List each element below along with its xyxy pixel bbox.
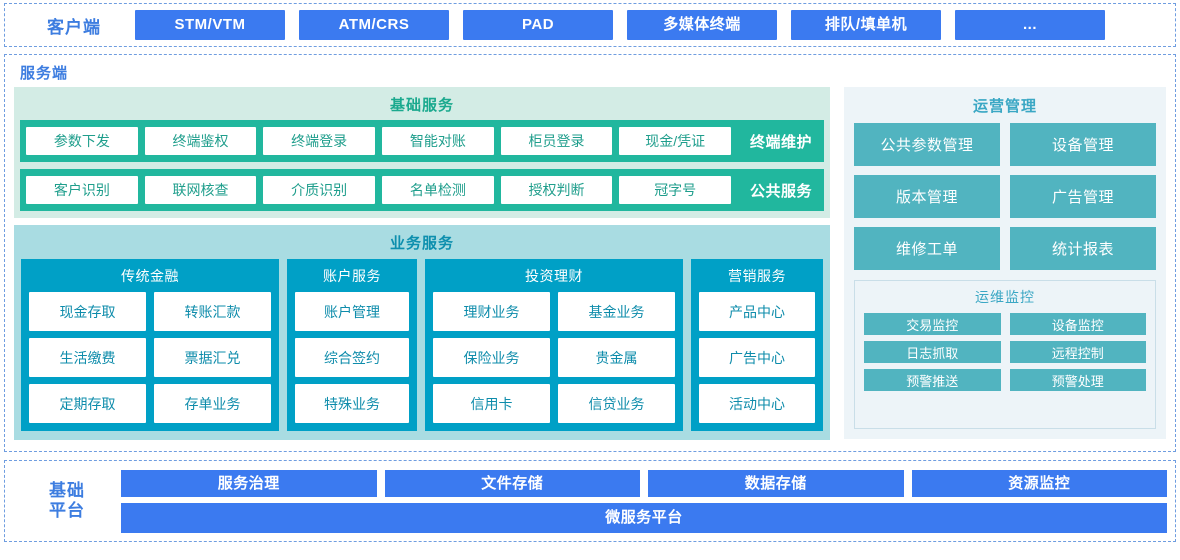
ops-tile-statistical-report[interactable]: 统计报表 xyxy=(1010,227,1156,270)
client-item-pad[interactable]: PAD xyxy=(463,10,613,40)
ops-tile-advertising-management[interactable]: 广告管理 xyxy=(1010,175,1156,218)
client-layer-title: 客户端 xyxy=(13,13,135,38)
business-group-items-marketing-service: 产品中心 广告中心 活动中心 xyxy=(699,292,815,423)
basic-chip-online-verification[interactable]: 联网核查 xyxy=(145,176,257,204)
business-group-title-traditional-finance: 传统金融 xyxy=(29,263,271,292)
basic-chip-terminal-login[interactable]: 终端登录 xyxy=(263,127,375,155)
business-group-items-account-service: 账户管理 综合签约 特殊业务 xyxy=(295,292,409,423)
biz-chip-campaign-center[interactable]: 活动中心 xyxy=(699,384,815,423)
operations-tiles: 公共参数管理 设备管理 版本管理 广告管理 维修工单 统计报表 xyxy=(854,123,1156,270)
basic-services-row-public-service: 客户识别 联网核查 介质识别 名单检测 授权判断 冠字号 公共服务 xyxy=(20,169,824,211)
business-group-items-investment-finance: 理财业务 基金业务 保险业务 贵金属 信用卡 信贷业务 xyxy=(433,292,675,423)
platform-layer: 基础 平台 服务治理 文件存储 数据存储 资源监控 微服务平台 xyxy=(4,460,1176,542)
ops-monitoring-title: 运维监控 xyxy=(864,285,1146,313)
platform-item-file-storage[interactable]: 文件存储 xyxy=(385,470,641,497)
basic-services-panel: 基础服务 参数下发 终端鉴权 终端登录 智能对账 柜员登录 现金/凭证 终端维护… xyxy=(14,87,830,218)
biz-chip-account-management[interactable]: 账户管理 xyxy=(295,292,409,331)
business-group-items-traditional-finance: 现金存取 转账汇款 生活缴费 票据汇兑 定期存取 存单业务 xyxy=(29,292,271,423)
platform-item-service-governance[interactable]: 服务治理 xyxy=(121,470,377,497)
biz-chip-fund-business[interactable]: 基金业务 xyxy=(558,292,675,331)
biz-chip-insurance-business[interactable]: 保险业务 xyxy=(433,338,550,377)
business-group-traditional-finance: 传统金融 现金存取 转账汇款 生活缴费 票据汇兑 定期存取 存单业务 xyxy=(21,259,279,431)
basic-chip-smart-reconciliation[interactable]: 智能对账 xyxy=(382,127,494,155)
basic-chip-cash-voucher[interactable]: 现金/凭证 xyxy=(619,127,731,155)
biz-chip-credit-card[interactable]: 信用卡 xyxy=(433,384,550,423)
biz-chip-transfer-remittance[interactable]: 转账汇款 xyxy=(154,292,271,331)
operations-management-title: 运营管理 xyxy=(854,92,1156,123)
basic-row-tag-public-service: 公共服务 xyxy=(738,180,824,201)
biz-chip-special-business[interactable]: 特殊业务 xyxy=(295,384,409,423)
business-group-title-account-service: 账户服务 xyxy=(295,263,409,292)
monitor-tile-alert-handling[interactable]: 预警处理 xyxy=(1010,369,1147,391)
basic-chip-list-detection[interactable]: 名单检测 xyxy=(382,176,494,204)
basic-services-row-terminal-maintenance: 参数下发 终端鉴权 终端登录 智能对账 柜员登录 现金/凭证 终端维护 xyxy=(20,120,824,162)
platform-item-data-storage[interactable]: 数据存储 xyxy=(648,470,904,497)
biz-chip-credit-business[interactable]: 信贷业务 xyxy=(558,384,675,423)
monitor-tile-log-capture[interactable]: 日志抓取 xyxy=(864,341,1001,363)
basic-chip-media-recognition[interactable]: 介质识别 xyxy=(263,176,375,204)
biz-chip-wealth-management[interactable]: 理财业务 xyxy=(433,292,550,331)
ops-tile-public-parameter-management[interactable]: 公共参数管理 xyxy=(854,123,1000,166)
server-layer-title: 服务端 xyxy=(20,62,1166,83)
basic-chip-authorization-judgement[interactable]: 授权判断 xyxy=(501,176,613,204)
biz-chip-living-payment[interactable]: 生活缴费 xyxy=(29,338,146,377)
basic-chip-param-delivery[interactable]: 参数下发 xyxy=(26,127,138,155)
business-group-investment-finance: 投资理财 理财业务 基金业务 保险业务 贵金属 信用卡 信贷业务 xyxy=(425,259,683,431)
platform-item-microservice-platform[interactable]: 微服务平台 xyxy=(121,503,1167,533)
monitor-tile-remote-control[interactable]: 远程控制 xyxy=(1010,341,1147,363)
basic-chip-teller-login[interactable]: 柜员登录 xyxy=(501,127,613,155)
biz-chip-comprehensive-signing[interactable]: 综合签约 xyxy=(295,338,409,377)
client-layer: 客户端 STM/VTM ATM/CRS PAD 多媒体终端 排队/填单机 ... xyxy=(4,3,1176,47)
client-item-stm-vtm[interactable]: STM/VTM xyxy=(135,10,285,40)
client-item-atm-crs[interactable]: ATM/CRS xyxy=(299,10,449,40)
biz-chip-cash-deposit-withdrawal[interactable]: 现金存取 xyxy=(29,292,146,331)
biz-chip-bill-exchange[interactable]: 票据汇兑 xyxy=(154,338,271,377)
business-services-groups: 传统金融 现金存取 转账汇款 生活缴费 票据汇兑 定期存取 存单业务 xyxy=(21,259,823,431)
business-services-panel: 业务服务 传统金融 现金存取 转账汇款 生活缴费 票据汇兑 定期存取 存单业务 xyxy=(14,225,830,440)
server-left-column: 基础服务 参数下发 终端鉴权 终端登录 智能对账 柜员登录 现金/凭证 终端维护… xyxy=(14,87,830,439)
monitor-tile-alert-push[interactable]: 预警推送 xyxy=(864,369,1001,391)
business-group-marketing-service: 营销服务 产品中心 广告中心 活动中心 xyxy=(691,259,823,431)
server-columns: 基础服务 参数下发 终端鉴权 终端登录 智能对账 柜员登录 现金/凭证 终端维护… xyxy=(14,87,1166,439)
biz-chip-time-deposit[interactable]: 定期存取 xyxy=(29,384,146,423)
ops-tile-version-management[interactable]: 版本管理 xyxy=(854,175,1000,218)
biz-chip-product-center[interactable]: 产品中心 xyxy=(699,292,815,331)
client-item-queue-form-machine[interactable]: 排队/填单机 xyxy=(791,10,941,40)
ops-monitoring-tiles: 交易监控 设备监控 日志抓取 远程控制 预警推送 预警处理 xyxy=(864,313,1146,391)
operations-management-panel: 运营管理 公共参数管理 设备管理 版本管理 广告管理 维修工单 统计报表 运维监… xyxy=(844,87,1166,439)
business-services-title: 业务服务 xyxy=(21,228,823,259)
platform-content: 服务治理 文件存储 数据存储 资源监控 微服务平台 xyxy=(121,470,1167,533)
business-group-title-investment-finance: 投资理财 xyxy=(433,263,675,292)
ops-tile-device-management[interactable]: 设备管理 xyxy=(1010,123,1156,166)
ops-tile-repair-work-order[interactable]: 维修工单 xyxy=(854,227,1000,270)
server-layer: 服务端 基础服务 参数下发 终端鉴权 终端登录 智能对账 柜员登录 现金/凭证 … xyxy=(4,54,1176,452)
client-item-multimedia-terminal[interactable]: 多媒体终端 xyxy=(627,10,777,40)
basic-chip-terminal-auth[interactable]: 终端鉴权 xyxy=(145,127,257,155)
ops-monitoring-panel: 运维监控 交易监控 设备监控 日志抓取 远程控制 预警推送 预警处理 xyxy=(854,280,1156,429)
biz-chip-precious-metals[interactable]: 贵金属 xyxy=(558,338,675,377)
platform-row: 服务治理 文件存储 数据存储 资源监控 xyxy=(121,470,1167,497)
biz-chip-advertising-center[interactable]: 广告中心 xyxy=(699,338,815,377)
architecture-diagram: 客户端 STM/VTM ATM/CRS PAD 多媒体终端 排队/填单机 ...… xyxy=(0,0,1180,560)
platform-item-resource-monitoring[interactable]: 资源监控 xyxy=(912,470,1168,497)
client-item-more[interactable]: ... xyxy=(955,10,1105,40)
basic-chip-customer-identification[interactable]: 客户识别 xyxy=(26,176,138,204)
platform-title-line2: 平台 xyxy=(13,501,121,521)
monitor-tile-transaction-monitoring[interactable]: 交易监控 xyxy=(864,313,1001,335)
business-group-title-marketing-service: 营销服务 xyxy=(699,263,815,292)
platform-title-line1: 基础 xyxy=(13,481,121,501)
basic-row-tag-terminal-maintenance: 终端维护 xyxy=(738,131,824,152)
basic-chip-serial-number[interactable]: 冠字号 xyxy=(619,176,731,204)
business-group-account-service: 账户服务 账户管理 综合签约 特殊业务 xyxy=(287,259,417,431)
biz-chip-certificate-deposit[interactable]: 存单业务 xyxy=(154,384,271,423)
platform-layer-title: 基础 平台 xyxy=(13,481,121,520)
basic-services-title: 基础服务 xyxy=(20,91,824,120)
monitor-tile-device-monitoring[interactable]: 设备监控 xyxy=(1010,313,1147,335)
